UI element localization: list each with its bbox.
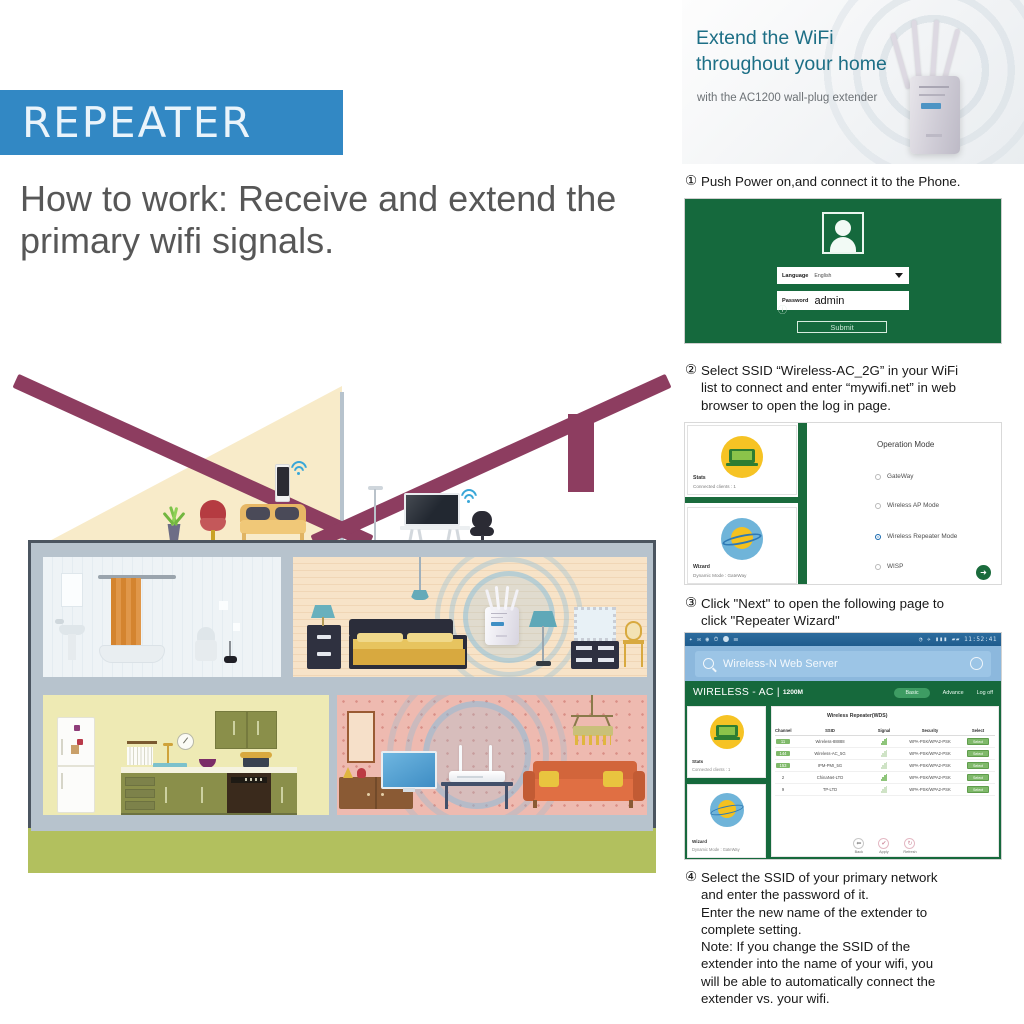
avatar bbox=[822, 212, 864, 254]
router-table-leg-r bbox=[505, 785, 508, 809]
card-subtitle: Dynamic Mode : GateWay bbox=[693, 573, 746, 578]
browser-url-bar[interactable]: Wireless-N Web Server bbox=[685, 646, 1001, 681]
dresser-drawer-2 bbox=[598, 646, 614, 650]
kitchen-kickboard bbox=[121, 813, 297, 815]
table-row[interactable]: 11 Wireless-88888 WPA-PSK/WPA2-PSK Selec… bbox=[775, 736, 995, 748]
product-antenna-2 bbox=[911, 20, 921, 82]
gold-chair-back bbox=[625, 621, 642, 641]
column-header-signal: Signal bbox=[869, 728, 899, 733]
table-row[interactable]: 9 TP-LTD WPA-PSK/WPA2-PSK Select bbox=[775, 784, 995, 796]
chandelier-cord bbox=[591, 695, 593, 717]
step-3-text: Click "Next" to open the following page … bbox=[701, 595, 1019, 630]
signal-bars-icon bbox=[869, 786, 899, 794]
dresser-drawer-1 bbox=[576, 646, 592, 650]
nightstand-drawer-1 bbox=[317, 635, 331, 639]
knife-rack bbox=[127, 741, 157, 744]
cabinet-drawer-2 bbox=[125, 789, 155, 798]
sofa-leg-l bbox=[533, 800, 537, 808]
panel-accent-vertical bbox=[798, 423, 807, 585]
tv-living-screen bbox=[383, 753, 435, 787]
floor-lamp-bedroom-shade bbox=[529, 611, 557, 627]
radio-option-wireless-ap[interactable]: Wireless AP Mode bbox=[875, 502, 939, 509]
cell-channel: 2 bbox=[775, 775, 791, 780]
cabinet-handle-1 bbox=[233, 721, 235, 735]
url-input[interactable]: Wireless-N Web Server bbox=[695, 651, 991, 677]
action-label: Apply bbox=[878, 850, 889, 854]
fridge-note bbox=[71, 745, 79, 754]
card-subtitle: Dynamic Mode : GateWay bbox=[692, 847, 740, 852]
dresser-drawer-4 bbox=[598, 658, 614, 662]
radio-icon[interactable] bbox=[875, 503, 881, 509]
column-header-select: Select bbox=[961, 728, 995, 733]
cell-security: WPA-PSK/WPA2-PSK bbox=[899, 787, 961, 792]
router-ui-body: Stats Connected clients : 1 Wizard Dynam… bbox=[685, 704, 1001, 859]
radio-option-wireless-repeater[interactable]: Wireless Repeater Mode bbox=[875, 533, 957, 540]
laptop-icon bbox=[721, 436, 763, 478]
sofa-arm-left bbox=[523, 771, 535, 801]
faucet-kitchen bbox=[167, 745, 169, 765]
cabinet-handle-2 bbox=[257, 721, 259, 735]
fridge-split bbox=[57, 765, 95, 767]
house-cutaway-illustration bbox=[22, 378, 662, 938]
room-bathroom bbox=[43, 557, 281, 677]
faucet bbox=[55, 619, 64, 624]
cabinet-door-handle-3 bbox=[281, 787, 283, 803]
pendant-lamp-cord bbox=[419, 557, 421, 591]
router-nav-tabs: Basic Advance Log off bbox=[894, 688, 993, 698]
product-led-row bbox=[919, 94, 945, 96]
room-bedroom bbox=[293, 557, 647, 677]
chimney bbox=[568, 414, 594, 492]
step-2-text: Select SSID “Wireless-AC_2G” in your WiF… bbox=[701, 362, 1019, 414]
select-button[interactable]: Select bbox=[967, 774, 989, 781]
bathtub bbox=[99, 645, 165, 663]
card-title: Stats bbox=[693, 475, 706, 481]
radio-icon[interactable] bbox=[875, 474, 881, 480]
gold-chair-leg-l bbox=[624, 643, 626, 667]
router-ui-header: WIRELESS - AC | 1200M Basic Advance Log … bbox=[685, 681, 1001, 704]
roof bbox=[22, 378, 662, 546]
radio-icon[interactable] bbox=[875, 564, 881, 570]
sideboard-knob-2 bbox=[381, 793, 384, 796]
router-login-screenshot: Language English Password admin ⓘ Submit bbox=[684, 198, 1002, 344]
cell-security: WPA-PSK/WPA2-PSK bbox=[899, 763, 961, 768]
check-icon: ✔ bbox=[878, 838, 889, 849]
card-title: Stats bbox=[692, 759, 703, 764]
table-lamp-stem bbox=[322, 617, 324, 626]
dresser-drawer-3 bbox=[576, 658, 592, 662]
globe-icon bbox=[721, 518, 763, 560]
cabinet-door-handle-1 bbox=[165, 787, 167, 803]
badge-label: REPEATER bbox=[22, 98, 252, 147]
bathroom-mirror bbox=[61, 573, 83, 607]
operation-mode-screenshot: Stats Connected clients : 1 Wizard Dynam… bbox=[684, 422, 1002, 585]
reload-icon[interactable] bbox=[970, 657, 983, 670]
nightstand-drawer-2 bbox=[317, 652, 331, 656]
status-icons-left: ✦ ✉ ◉ ⏱ ⬤ ☰ bbox=[689, 636, 739, 644]
sofa-arm-right bbox=[633, 771, 645, 801]
sideboard-knob-1 bbox=[367, 793, 370, 796]
signal-bars-icon bbox=[869, 762, 899, 770]
sidebar-card-stats[interactable]: Stats Connected clients : 1 bbox=[687, 706, 766, 778]
pillow-left bbox=[357, 633, 403, 642]
select-button[interactable]: Select bbox=[967, 738, 989, 745]
table-action-buttons: ⬅ Back ✔ Apply ↻ Refresh bbox=[772, 838, 998, 854]
cell-ssid: IPM-PMI_5G bbox=[791, 763, 869, 768]
language-value: English bbox=[814, 273, 831, 279]
radio-icon-selected[interactable] bbox=[875, 534, 881, 540]
room-kitchen bbox=[43, 695, 329, 815]
floor-lamp-bedroom-pole bbox=[542, 626, 544, 664]
product-antenna-1 bbox=[890, 32, 911, 89]
refresh-icon: ↻ bbox=[904, 838, 915, 849]
repeater-logo bbox=[491, 622, 504, 626]
signal-bars-icon bbox=[869, 750, 899, 758]
globe-icon bbox=[710, 793, 744, 827]
sofa-leg-r bbox=[629, 800, 633, 808]
gold-chair-leg-r bbox=[641, 643, 643, 667]
signal-bars-icon bbox=[869, 774, 899, 782]
house-body bbox=[28, 540, 656, 828]
table-row[interactable]: 153 IPM-PMI_5G WPA-PSK/WPA2-PSK Select bbox=[775, 760, 995, 772]
step-3-number: ③ bbox=[685, 595, 697, 611]
fridge-handle-2 bbox=[61, 773, 63, 789]
repeater-wizard-screenshot: ✦ ✉ ◉ ⏱ ⬤ ☰ ◔ ✈ ▮▮▮ ▰▰ 11:52:41 Wireless… bbox=[684, 632, 1002, 860]
router-sidebar: Stats Connected clients : 1 Wizard Dynam… bbox=[687, 706, 766, 857]
router-antenna-left bbox=[459, 745, 462, 773]
option-label: Wireless Repeater Mode bbox=[887, 533, 957, 540]
right-column: Extend the WiFi throughout your home wit… bbox=[672, 0, 1024, 1024]
back-arrow-icon: ⬅ bbox=[853, 838, 864, 849]
sidebar-card-wizard[interactable]: Wizard Dynamic Mode : GateWay bbox=[687, 507, 797, 584]
toilet-tank bbox=[197, 627, 215, 641]
table-row[interactable]: 144 Wireless-AC_5G WPA-PSK/WPA2-PSK Sele… bbox=[775, 748, 995, 760]
avatar-body-icon bbox=[830, 237, 856, 252]
column-header-security: Security bbox=[899, 728, 961, 733]
url-text: Wireless-N Web Server bbox=[723, 658, 838, 670]
dresser-mirror bbox=[574, 607, 616, 641]
sink-pedestal bbox=[68, 634, 76, 660]
floor-slab-ground bbox=[31, 815, 653, 831]
product-port bbox=[926, 134, 942, 137]
select-button[interactable]: Select bbox=[967, 750, 989, 757]
apply-button[interactable]: ✔ Apply bbox=[878, 838, 889, 854]
dish-rack bbox=[127, 747, 153, 765]
sidebar-card-stats[interactable]: Stats Connected clients : 1 bbox=[687, 425, 797, 495]
left-column: REPEATER How to work: Receive and extend… bbox=[0, 0, 672, 1024]
cell-ssid: Wireless-88888 bbox=[791, 739, 869, 744]
laptop-icon bbox=[710, 715, 744, 749]
product-label-lines bbox=[919, 86, 949, 88]
router-led-row bbox=[457, 776, 483, 778]
option-label: Wireless AP Mode bbox=[887, 502, 939, 509]
pillow-right bbox=[407, 633, 453, 642]
chandelier-crystals bbox=[575, 735, 611, 745]
wall-cabinet-split bbox=[246, 711, 248, 749]
tab-basic[interactable]: Basic bbox=[894, 688, 929, 698]
next-arrow-button[interactable]: ➜ bbox=[976, 565, 991, 580]
nightstand bbox=[307, 625, 341, 669]
wifi-router-device bbox=[449, 745, 505, 785]
repeater-badge: REPEATER bbox=[0, 90, 343, 155]
picture-frame bbox=[347, 711, 375, 763]
step-1-number: ① bbox=[685, 173, 697, 189]
oven-knob-row bbox=[245, 778, 263, 781]
cushion-yellow-2 bbox=[603, 771, 623, 787]
submit-button[interactable]: Submit bbox=[797, 321, 887, 333]
column-header-ssid: SSID bbox=[791, 728, 869, 733]
product-antenna-3 bbox=[930, 20, 939, 82]
cell-ssid: TP-LTD bbox=[791, 787, 869, 792]
table-title: Wireless Repeater(WDS) bbox=[827, 713, 888, 719]
card-title: Wizard bbox=[692, 839, 707, 844]
faucet-kitchen-top bbox=[163, 743, 173, 746]
wds-scan-table: Channel SSID Signal Security Select 11 W… bbox=[775, 725, 995, 796]
fridge-magnet-1 bbox=[74, 725, 80, 731]
operation-mode-form: Operation Mode GateWay Wireless AP Mode … bbox=[811, 423, 1001, 584]
cell-security: WPA-PSK/WPA2-PSK bbox=[899, 751, 961, 756]
router-table bbox=[441, 782, 513, 786]
tab-logoff[interactable]: Log off bbox=[977, 690, 993, 696]
operation-mode-title: Operation Mode bbox=[877, 440, 934, 449]
cell-channel: 9 bbox=[775, 787, 791, 792]
tv-living-stand bbox=[403, 788, 415, 792]
product-brand-badge bbox=[921, 103, 941, 109]
password-input[interactable]: Password admin bbox=[777, 291, 909, 310]
channel-chip: 144 bbox=[776, 751, 790, 756]
router-antenna-right bbox=[489, 745, 492, 773]
sideboard-split bbox=[375, 777, 377, 809]
step-2-number: ② bbox=[685, 362, 697, 378]
router-table-leg-l bbox=[445, 785, 448, 809]
card-title: Wizard bbox=[693, 564, 710, 570]
option-label: WISP bbox=[887, 563, 903, 570]
toilet-bowl bbox=[195, 640, 217, 661]
column-header-channel: Channel bbox=[775, 728, 791, 733]
sidebar-card-wizard[interactable]: Wizard Dynamic Mode : GateWay bbox=[687, 784, 766, 858]
fridge-handle-1 bbox=[61, 739, 63, 755]
back-button[interactable]: ⬅ Back bbox=[853, 838, 864, 854]
option-label: GateWay bbox=[887, 473, 913, 480]
product-body bbox=[910, 76, 960, 154]
vase-red bbox=[357, 768, 366, 778]
refresh-button[interactable]: ↻ Refresh bbox=[903, 838, 916, 854]
router-rate-badge: 1200M bbox=[783, 689, 803, 696]
router-brand: WIRELESS - AC | bbox=[693, 687, 780, 698]
wifi-repeater-device bbox=[485, 587, 519, 645]
radio-option-wisp[interactable]: WISP bbox=[875, 563, 903, 570]
language-label: Language bbox=[782, 273, 808, 279]
page-subtitle: How to work: Receive and extend the prim… bbox=[20, 178, 650, 263]
step-4-number: ④ bbox=[685, 869, 697, 885]
select-button[interactable]: Select bbox=[967, 786, 989, 793]
step-4-text: Select the SSID of your primary network … bbox=[701, 869, 1019, 1007]
room-living bbox=[337, 695, 647, 815]
search-icon bbox=[703, 658, 714, 669]
table-header-row: Channel SSID Signal Security Select bbox=[775, 725, 995, 736]
table-row[interactable]: 2 ChinaNet-LTD WPA-PSK/WPA2-PSK Select bbox=[775, 772, 995, 784]
cell-security: WPA-PSK/WPA2-PSK bbox=[899, 775, 961, 780]
channel-chip: 11 bbox=[776, 739, 790, 744]
select-button[interactable]: Select bbox=[967, 762, 989, 769]
cell-security: WPA-PSK/WPA2-PSK bbox=[899, 739, 961, 744]
pot-lid bbox=[240, 752, 272, 758]
action-label: Back bbox=[853, 850, 864, 854]
cell-ssid: Wireless-AC_5G bbox=[791, 751, 869, 756]
chevron-down-icon[interactable] bbox=[895, 273, 903, 278]
tab-advance[interactable]: Advance bbox=[943, 690, 964, 696]
floor-slab-middle bbox=[31, 679, 653, 693]
hero-banner: Extend the WiFi throughout your home wit… bbox=[682, 0, 1024, 164]
extender-product-photo bbox=[870, 14, 990, 154]
status-icons-right: ◔ ✈ ▮▮▮ ▰▰ 11:52:41 bbox=[919, 636, 997, 643]
bathroom-switch bbox=[219, 601, 228, 610]
bed-blanket bbox=[353, 649, 465, 665]
cabinet-door-handle-2 bbox=[201, 787, 203, 803]
step-1-text: Push Power on,and connect it to the Phon… bbox=[701, 173, 1017, 190]
panel-accent-horizontal bbox=[685, 497, 807, 503]
signal-bars-icon bbox=[869, 738, 899, 746]
cell-ssid: ChinaNet-LTD bbox=[791, 775, 869, 780]
action-label: Refresh bbox=[903, 850, 916, 854]
cabinet-drawer-1 bbox=[125, 777, 155, 786]
card-subtitle: Connected clients : 1 bbox=[693, 484, 736, 489]
infographic-page: REPEATER How to work: Receive and extend… bbox=[0, 0, 1024, 1024]
cushion-yellow-1 bbox=[539, 771, 559, 787]
cabinet-drawer-3 bbox=[125, 801, 155, 810]
avatar-head-icon bbox=[835, 220, 851, 236]
phone-status-bar: ✦ ✉ ◉ ⏱ ⬤ ☰ ◔ ✈ ▮▮▮ ▰▰ 11:52:41 bbox=[685, 633, 1001, 646]
repeater-wds-table-panel: Wireless Repeater(WDS) Channel SSID Sign… bbox=[771, 706, 999, 857]
radio-option-gateway[interactable]: GateWay bbox=[875, 473, 913, 480]
bathroom-outlet bbox=[233, 623, 240, 631]
plunger-head bbox=[224, 656, 237, 663]
floor-lamp-bedroom-base bbox=[536, 661, 551, 666]
language-select[interactable]: Language English bbox=[777, 267, 909, 284]
password-value: admin bbox=[814, 295, 844, 307]
card-subtitle: Connected clients : 1 bbox=[692, 767, 730, 772]
info-icon[interactable]: ⓘ bbox=[778, 303, 787, 316]
channel-chip: 153 bbox=[776, 763, 790, 768]
